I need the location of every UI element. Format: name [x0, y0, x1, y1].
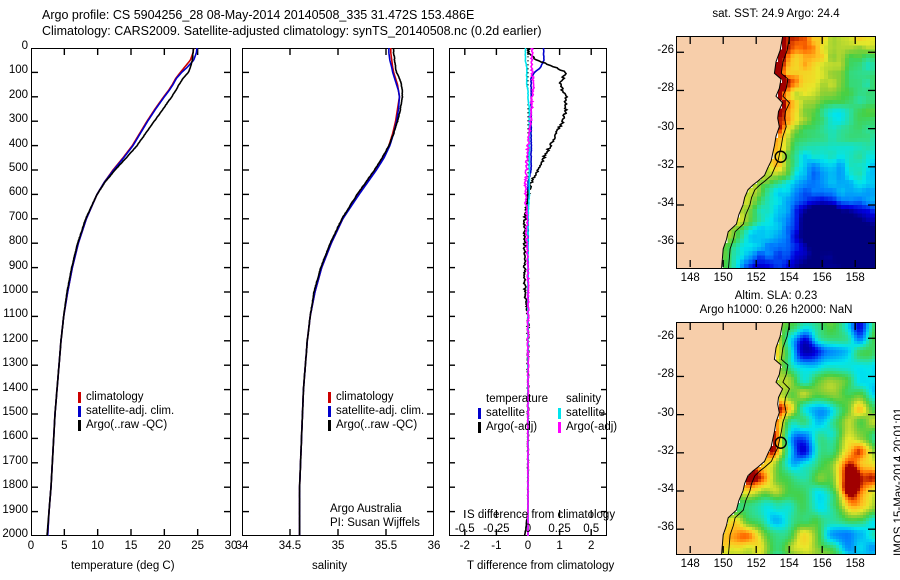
difference-legend-title-temperature: temperature: [486, 392, 548, 406]
tick-label: 156: [813, 272, 832, 284]
tick-label: 1900: [2, 504, 28, 516]
tick-label: -0.5: [455, 523, 475, 535]
legend-item-sal-argo: Argo(-adj): [558, 420, 617, 434]
tick-label: 2000: [2, 528, 28, 540]
credit-pi: PI: Susan Wijffels: [330, 516, 420, 530]
tick-label: 150: [714, 558, 733, 570]
tick-label: 152: [747, 558, 766, 570]
tick-label: 1200: [2, 333, 28, 345]
page-title-line2: Climatology: CARS2009. Satellite-adjuste…: [42, 24, 542, 38]
legend-item-climatology-s: climatology: [328, 390, 424, 404]
legend-label-satellite-adj-s: satellite-adj. clim.: [336, 404, 424, 418]
tick-label: 200: [9, 89, 28, 101]
tick-label: -2: [460, 540, 470, 552]
tick-label: 158: [846, 272, 865, 284]
legend-label-satellite-adj: satellite-adj. clim.: [86, 404, 174, 418]
tick-label: -28: [657, 368, 674, 380]
tick-label: 148: [681, 558, 700, 570]
legend-label-temp-satellite: satellite: [486, 406, 525, 420]
tick-label: 1800: [2, 479, 28, 491]
tick-label: -30: [657, 121, 674, 133]
tick-label: 1500: [2, 406, 28, 418]
tick-label: 35: [332, 540, 345, 552]
tick-label: 1300: [2, 357, 28, 369]
legend-item-sal-satellite: satellite: [558, 406, 617, 420]
difference-plot-canvas: [449, 48, 607, 536]
tick-label: 400: [9, 138, 28, 150]
tick-label: 0: [22, 40, 28, 52]
legend-swatch-sal-satellite: [558, 408, 561, 419]
tick-label: 1600: [2, 430, 28, 442]
tick-label: 0.5: [583, 523, 599, 535]
temperature-plot-canvas: [31, 48, 231, 536]
tick-label: 900: [9, 260, 28, 272]
tick-label: -28: [657, 82, 674, 94]
legend-item-argo: Argo(..raw -QC): [78, 418, 174, 432]
legend-item-temp-satellite: satellite: [478, 406, 548, 420]
difference-legend-salinity: salinity satellite Argo(-adj): [558, 392, 617, 434]
tick-label: 2: [588, 540, 594, 552]
tick-label: -32: [657, 159, 674, 171]
salinity-plot-canvas: [242, 48, 434, 536]
tick-label: 150: [714, 272, 733, 284]
tick-label: 20: [158, 540, 171, 552]
sla-map-title-line2: Argo h1000: 0.26 h2000: NaN: [660, 304, 892, 316]
difference-inner-x-axis-label: S difference from climatology: [467, 509, 615, 521]
sst-map-canvas: [677, 37, 875, 268]
legend-label-sal-satellite: satellite: [566, 406, 605, 420]
tick-label: 10: [91, 540, 104, 552]
legend-item-satellite-adj-s: satellite-adj. clim.: [328, 404, 424, 418]
legend-item-temp-argo: Argo(-adj): [478, 420, 548, 434]
tick-label: -30: [657, 407, 674, 419]
legend-swatch-climatology: [78, 392, 81, 403]
tick-label: 158: [846, 558, 865, 570]
difference-legend-temperature: temperature satellite Argo(-adj): [478, 392, 548, 434]
legend-swatch-temp-satellite: [478, 408, 481, 419]
tick-label: 36: [428, 540, 441, 552]
legend-swatch-argo: [78, 420, 81, 431]
legend-label-argo: Argo(..raw -QC): [86, 418, 167, 432]
timestamp-text: IMOS 15-May-2014 20:01:01: [893, 408, 900, 556]
legend-label-argo-s: Argo(..raw -QC): [336, 418, 417, 432]
legend-label-sal-argo: Argo(-adj): [566, 420, 617, 434]
tick-label: -34: [657, 197, 674, 209]
tick-label: 154: [780, 558, 799, 570]
sla-map-canvas: [677, 323, 875, 554]
tick-label: 0: [525, 540, 531, 552]
tick-label: 156: [813, 558, 832, 570]
tick-label: -32: [657, 445, 674, 457]
tick-label: 100: [9, 64, 28, 76]
tick-label: 800: [9, 235, 28, 247]
legend-item-satellite-adj: satellite-adj. clim.: [78, 404, 174, 418]
tick-label: 15: [125, 540, 138, 552]
legend-label-climatology-s: climatology: [336, 390, 394, 404]
difference-legend-title-salinity: salinity: [566, 392, 617, 406]
legend-label-climatology: climatology: [86, 390, 144, 404]
tick-label: 1700: [2, 455, 28, 467]
tick-label: 0: [28, 540, 34, 552]
sla-map-title-line1: Altim. SLA: 0.23: [676, 290, 876, 302]
page-title-line1: Argo profile: CS 5904256_28 08-May-2014 …: [42, 8, 474, 22]
legend-swatch-argo-s: [328, 420, 331, 431]
tick-label: 1: [556, 540, 562, 552]
tick-label: 34: [236, 540, 249, 552]
credit-org: Argo Australia: [330, 502, 420, 516]
tick-label: 600: [9, 186, 28, 198]
legend-label-temp-argo: Argo(-adj): [486, 420, 537, 434]
tick-label: -0.25: [483, 523, 509, 535]
credit-block: Argo Australia PI: Susan Wijffels: [330, 502, 420, 530]
timestamp-vertical: IMOS 15-May-2014 20:01:01: [893, 556, 900, 568]
tick-label: 500: [9, 162, 28, 174]
temperature-legend: climatology satellite-adj. clim. Argo(..…: [78, 390, 174, 432]
tick-label: -36: [657, 521, 674, 533]
tick-label: -34: [657, 483, 674, 495]
legend-swatch-satellite-adj-s: [328, 406, 331, 417]
sst-map-frame: [676, 36, 876, 269]
tick-label: -26: [657, 330, 674, 342]
tick-label: -36: [657, 235, 674, 247]
tick-label: 25: [191, 540, 204, 552]
legend-swatch-sal-argo: [558, 422, 561, 433]
tick-label: 1000: [2, 284, 28, 296]
tick-label: 300: [9, 113, 28, 125]
legend-item-climatology: climatology: [78, 390, 174, 404]
tick-label: 0: [525, 523, 531, 535]
tick-label: -26: [657, 44, 674, 56]
salinity-legend: climatology satellite-adj. clim. Argo(..…: [328, 390, 424, 432]
tick-label: 34.5: [279, 540, 301, 552]
temperature-x-axis-label: temperature (deg C): [71, 560, 175, 572]
tick-label: 154: [780, 272, 799, 284]
difference-x-axis-label: T difference from climatology: [467, 560, 614, 572]
tick-label: 1100: [3, 308, 28, 320]
tick-label: 148: [681, 272, 700, 284]
sst-map-title: sat. SST: 24.9 Argo: 24.4: [676, 8, 876, 20]
tick-label: 0.25: [548, 523, 570, 535]
tick-label: 5: [61, 540, 67, 552]
legend-swatch-satellite-adj: [78, 406, 81, 417]
tick-label: 152: [747, 272, 766, 284]
tick-label: -1: [491, 540, 501, 552]
tick-label: 700: [9, 211, 28, 223]
legend-swatch-climatology-s: [328, 392, 331, 403]
legend-item-argo-s: Argo(..raw -QC): [328, 418, 424, 432]
tick-label: 35.5: [375, 540, 397, 552]
legend-swatch-temp-argo: [478, 422, 481, 433]
tick-label: 1400: [2, 382, 28, 394]
sla-map-frame: [676, 322, 876, 555]
salinity-x-axis-label: salinity: [312, 560, 347, 572]
